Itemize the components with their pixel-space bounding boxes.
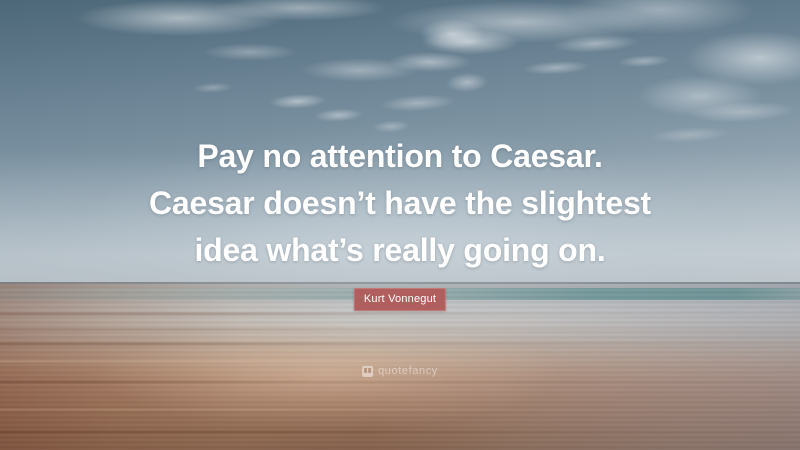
author-badge: Kurt Vonnegut [354, 288, 446, 311]
quote-line-1: Pay no attention to Caesar. [100, 133, 700, 180]
watermark: quotefancy [362, 365, 438, 377]
watermark-brand: quotefancy [378, 365, 438, 377]
quote-line-2: Caesar doesn’t have the slightest [100, 180, 700, 227]
quote-text: Pay no attention to Caesar. Caesar doesn… [100, 133, 700, 274]
quote-mark-icon [362, 366, 373, 377]
quote-content: Pay no attention to Caesar. Caesar doesn… [0, 0, 800, 450]
quote-line-3: idea what’s really going on. [100, 227, 700, 274]
quote-image: Pay no attention to Caesar. Caesar doesn… [0, 0, 800, 450]
